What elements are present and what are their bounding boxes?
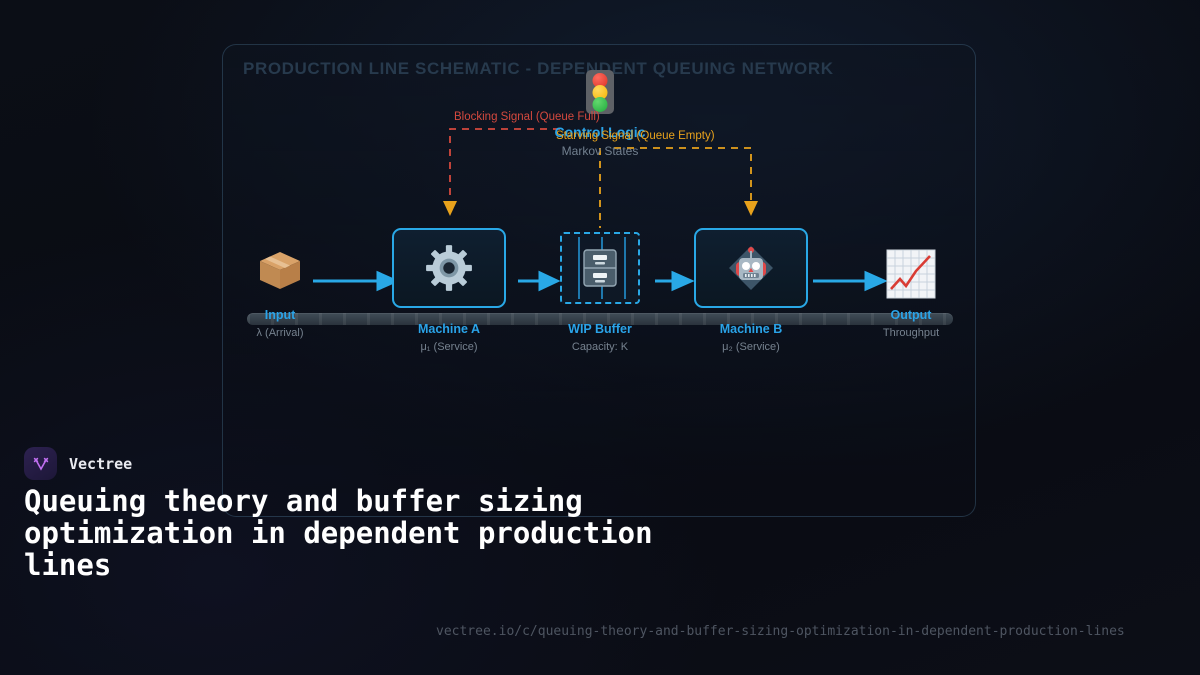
- station-sub: Throughput: [846, 327, 976, 339]
- page-url: vectree.io/c/queuing-theory-and-buffer-s…: [436, 624, 1125, 639]
- robot-icon: [725, 242, 777, 294]
- page-title: PRODUCTION LINE SCHEMATIC - DEPENDENT QU…: [243, 59, 834, 79]
- station-name: Output: [846, 308, 976, 322]
- station-sub: μ₁ (Service): [384, 341, 514, 353]
- station-machine-a[interactable]: [392, 228, 506, 308]
- station-input[interactable]: [247, 246, 313, 294]
- station-sub: λ (Arrival): [214, 327, 346, 339]
- station-sub: μ₂ (Service): [686, 341, 816, 353]
- station-machine-b-labels: Machine B μ₂ (Service): [686, 322, 816, 353]
- package-icon: [256, 246, 304, 294]
- station-machine-a-labels: Machine A μ₁ (Service): [384, 322, 514, 353]
- station-output[interactable]: [886, 249, 936, 299]
- vectree-logo-icon: [24, 447, 57, 480]
- station-wip-buffer[interactable]: [560, 232, 640, 304]
- headline: Queuing theory and buffer sizing optimiz…: [24, 485, 664, 581]
- station-name: Input: [214, 308, 346, 322]
- gear-icon: [424, 243, 474, 293]
- station-sub: Capacity: K: [535, 341, 665, 353]
- station-machine-b[interactable]: [694, 228, 808, 308]
- brand: Vectree: [24, 447, 132, 480]
- station-wip-buffer-labels: WIP Buffer Capacity: K: [535, 322, 665, 353]
- traffic-light-icon: [586, 70, 614, 114]
- file-cabinet-icon: [581, 248, 619, 288]
- station-input-labels: Input λ (Arrival): [214, 308, 346, 339]
- brand-name: Vectree: [69, 455, 132, 473]
- station-output-labels: Output Throughput: [846, 308, 976, 339]
- station-name: Machine A: [384, 322, 514, 336]
- blocking-signal-label: Blocking Signal (Queue Full): [454, 111, 600, 123]
- chart-increasing-icon: [886, 249, 936, 299]
- station-name: WIP Buffer: [535, 322, 665, 336]
- starving-signal-label: Starving Signal (Queue Empty): [556, 130, 715, 142]
- station-name: Machine B: [686, 322, 816, 336]
- control-logic-sublabel: Markov States: [562, 144, 639, 158]
